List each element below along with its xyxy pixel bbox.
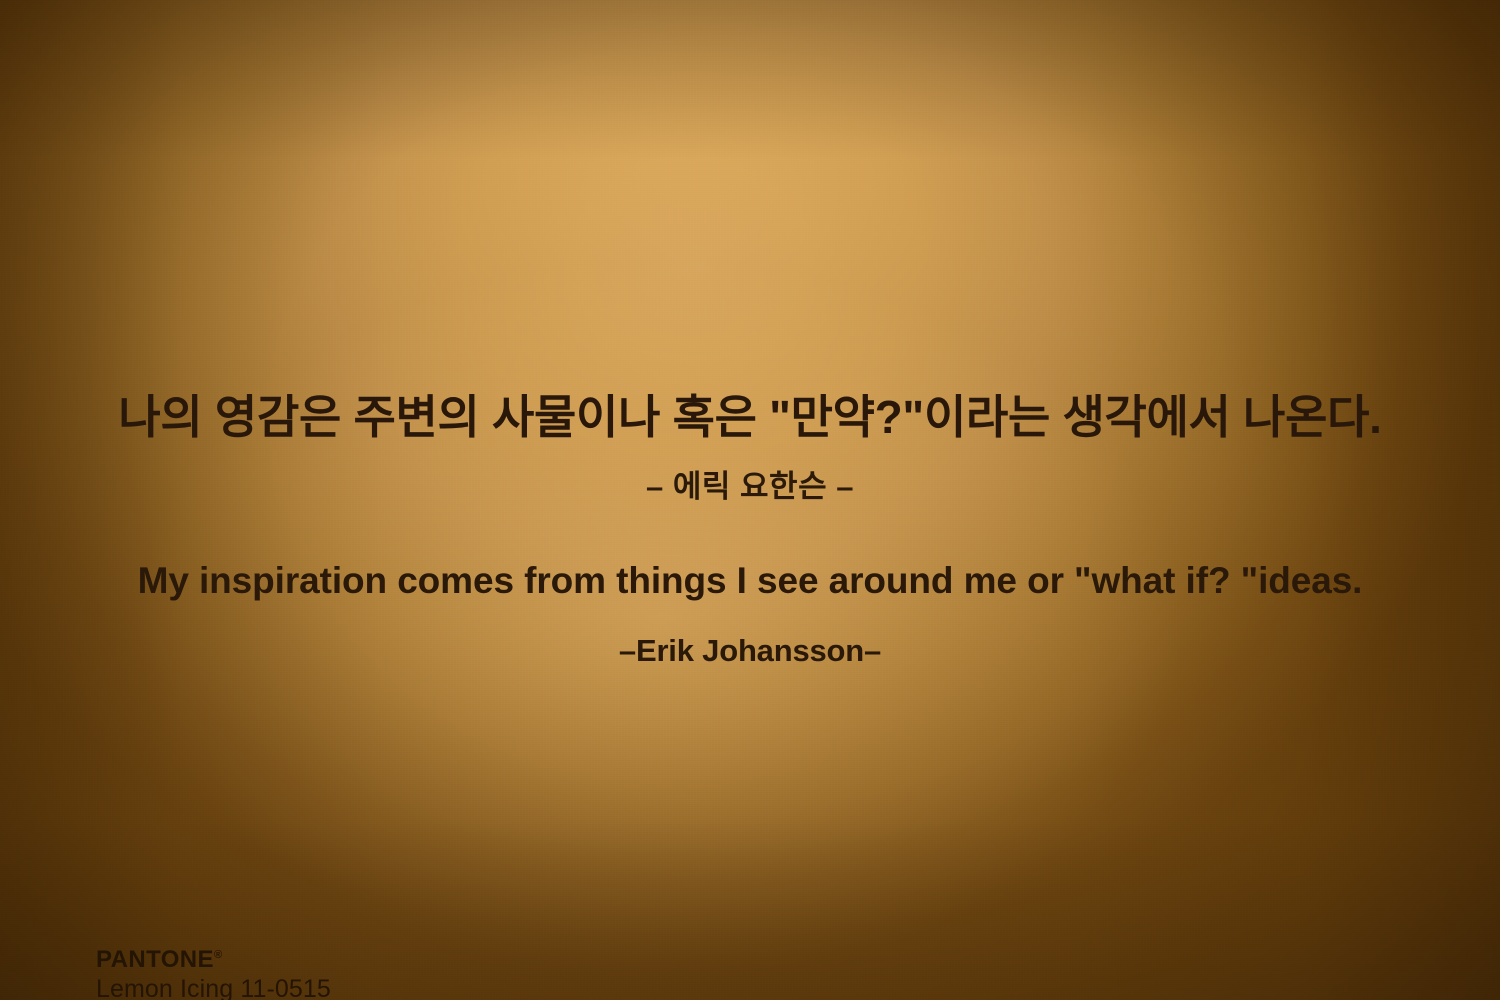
quote-block: 나의 영감은 주변의 사물이나 혹은 "만약?"이라는 생각에서 나온다. – … [0,386,1500,670]
quote-text-korean: 나의 영감은 주변의 사물이나 혹은 "만약?"이라는 생각에서 나온다. [0,386,1500,448]
quote-attribution-english: –Erik Johansson– [0,632,1500,670]
wall-quote-panel: 나의 영감은 주변의 사물이나 혹은 "만약?"이라는 생각에서 나온다. – … [0,0,1500,1000]
quote-attribution-korean: – 에릭 요한슨 – [0,468,1500,506]
registered-trademark-icon: ® [214,949,223,961]
pantone-color-label: PANTONE® Lemon Icing 11-0515 [96,947,331,1000]
pantone-color-name: Lemon Icing 11-0515 [96,974,331,1000]
pantone-brand-text: PANTONE [96,946,214,973]
quote-text-english: My inspiration comes from things I see a… [0,558,1500,604]
pantone-brand-wordmark: PANTONE® [96,947,331,973]
